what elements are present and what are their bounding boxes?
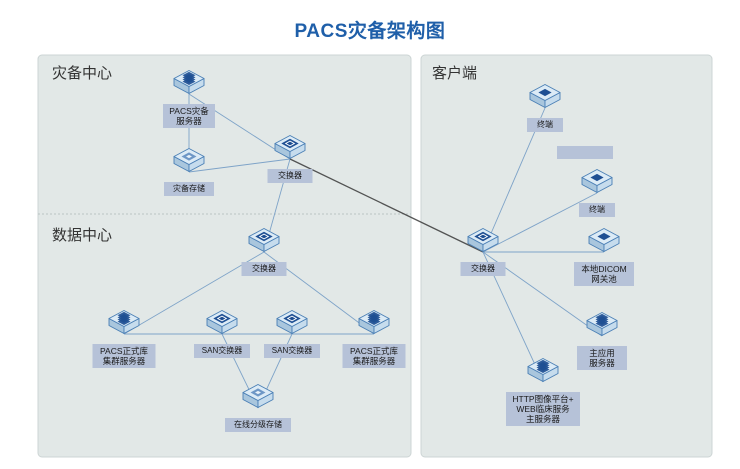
node-label-pacs-prod-right: PACS正式库 集群服务器: [343, 344, 406, 368]
node-label-tiered-storage: 在线分级存储: [225, 418, 291, 432]
node-label-main-app-server: 主应用 服务器: [577, 346, 627, 370]
node-label-san-switch-right: SAN交换器: [264, 344, 320, 358]
node-label-dicom-gateway: 本地DICOM 网关池: [574, 262, 634, 286]
node-label-switch-dr: 交换器: [268, 169, 313, 183]
blank-label: [557, 146, 613, 159]
panel-title-client: 客户端: [432, 62, 477, 83]
panel-title-data-center: 数据中心: [52, 224, 112, 245]
panel-left: [38, 55, 411, 457]
panels-group: [38, 55, 712, 457]
panel-title-dr-center: 灾备中心: [52, 62, 112, 83]
node-label-san-switch-left: SAN交换器: [194, 344, 250, 358]
node-label-pacs-dr-server: PACS灾备 服务器: [163, 104, 215, 128]
node-label-switch-dc: 交换器: [242, 262, 287, 276]
diagram-canvas: PACS灾备架构图 PACS灾备 服务器灾备存储交换器交换器PACS正式库 集群…: [0, 0, 740, 469]
node-label-http-web-server: HTTP图像平台+ WEB临床服务 主服务器: [506, 392, 580, 426]
node-label-terminal-mid: 终端: [579, 203, 615, 217]
node-label-dr-storage: 灾备存储: [164, 182, 214, 196]
node-label-pacs-prod-left: PACS正式库 集群服务器: [93, 344, 156, 368]
node-label-switch-client: 交换器: [461, 262, 506, 276]
node-label-terminal-top: 终端: [527, 118, 563, 132]
